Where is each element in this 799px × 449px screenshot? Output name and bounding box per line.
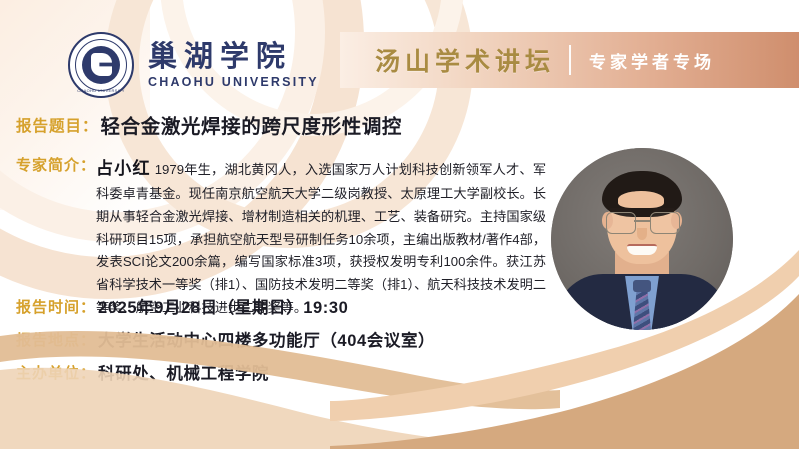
host-row: 主办单位： 科研处、机械工程学院 (16, 360, 269, 384)
speaker-name: 占小红 (96, 159, 151, 178)
topic-value: 轻合金激光焊接的跨尺度形性调控 (101, 110, 403, 139)
bio-body-text: 1979年生，湖北黄冈人，入选国家万人计划科技创新领军人才、军科委卓青基金。现任… (96, 162, 546, 315)
poster-root: 汤山学术讲坛 专家学者专场 CHAOHU UNIVERSITY 巢湖学院 CHA… (0, 0, 799, 449)
time-label: 报告时间： (16, 296, 96, 317)
portrait-lens-left (606, 212, 636, 234)
portrait-nose (637, 228, 647, 240)
topic-row: 报告题目： 轻合金激光焊接的跨尺度形性调控 (16, 110, 402, 139)
portrait-mouth (627, 244, 657, 255)
portrait-glasses-bridge (634, 220, 650, 222)
time-value: 2025年9月28日（星期日）19:30 (98, 294, 348, 318)
portrait-tie-knot (633, 280, 651, 292)
topic-label: 报告题目： (16, 114, 99, 136)
portrait-lens-right (650, 212, 680, 234)
place-row: 报告地点： 大学生活动中心四楼多功能厅（404会议室） (16, 327, 435, 351)
speaker-portrait (551, 148, 733, 330)
place-value: 大学生活动中心四楼多功能厅（404会议室） (98, 327, 435, 351)
host-value: 科研处、机械工程学院 (98, 360, 269, 384)
place-label: 报告地点： (16, 329, 96, 350)
host-label: 主办单位： (16, 362, 96, 383)
time-row: 报告时间： 2025年9月28日（星期日）19:30 (16, 294, 348, 318)
bio-label: 专家简介： (16, 154, 96, 175)
